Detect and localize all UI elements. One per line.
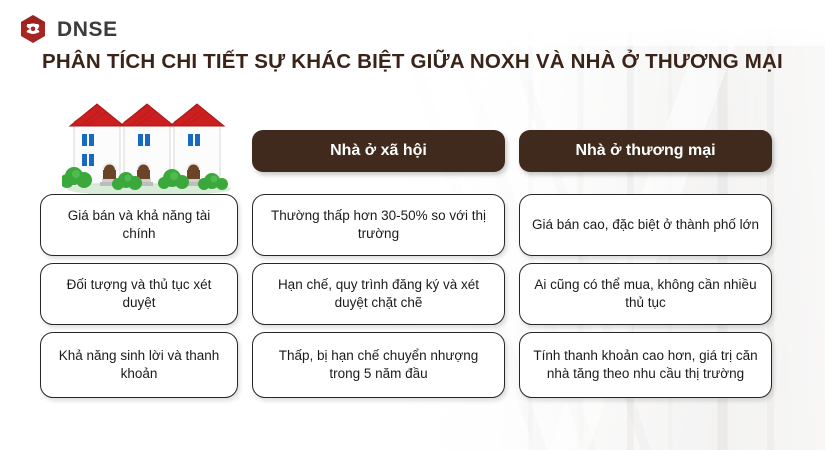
header-social-housing[interactable]: Nhà ở xã hội <box>252 130 505 172</box>
commercial-cell-1[interactable]: Giá bán cao, đặc biệt ở thành phố lớn <box>519 194 772 256</box>
brand-name: DNSE <box>57 19 118 40</box>
slide-root: DNSE PHÂN TÍCH CHI TIẾT SỰ KHÁC BIỆT GIỮ… <box>0 0 825 450</box>
social-cell-2[interactable]: Hạn chế, quy trình đăng ký và xét duyệt … <box>252 263 505 325</box>
page-title: PHÂN TÍCH CHI TIẾT SỰ KHÁC BIỆT GIỮA NOX… <box>0 50 825 74</box>
commercial-cell-2[interactable]: Ai cũng có thể mua, không cần nhiều thủ … <box>519 263 772 325</box>
brand-logo: DNSE <box>18 14 118 44</box>
table-row: Giá bán và khả năng tài chính Thường thấ… <box>40 194 785 256</box>
table-row: Đối tượng và thủ tục xét duyệt Hạn chế, … <box>40 263 785 325</box>
criterion-cell-3[interactable]: Khả năng sinh lời và thanh khoản <box>40 332 238 398</box>
social-cell-1[interactable]: Thường thấp hơn 30-50% so với thị trường <box>252 194 505 256</box>
commercial-cell-3[interactable]: Tính thanh khoản cao hơn, giá trị căn nh… <box>519 332 772 398</box>
criterion-cell-1[interactable]: Giá bán và khả năng tài chính <box>40 194 238 256</box>
social-cell-3[interactable]: Thấp, bị hạn chế chuyển nhượng trong 5 n… <box>252 332 505 398</box>
dnse-hexagon-logo-icon <box>18 14 48 44</box>
comparison-table: Nhà ở xã hội Nhà ở thương mại Giá bán và… <box>40 130 785 405</box>
header-commercial-housing[interactable]: Nhà ở thương mại <box>519 130 772 172</box>
table-header-row: Nhà ở xã hội Nhà ở thương mại <box>40 130 785 172</box>
criterion-cell-2[interactable]: Đối tượng và thủ tục xét duyệt <box>40 263 238 325</box>
header-corner-spacer <box>40 130 238 172</box>
table-row: Khả năng sinh lời và thanh khoản Thấp, b… <box>40 332 785 398</box>
